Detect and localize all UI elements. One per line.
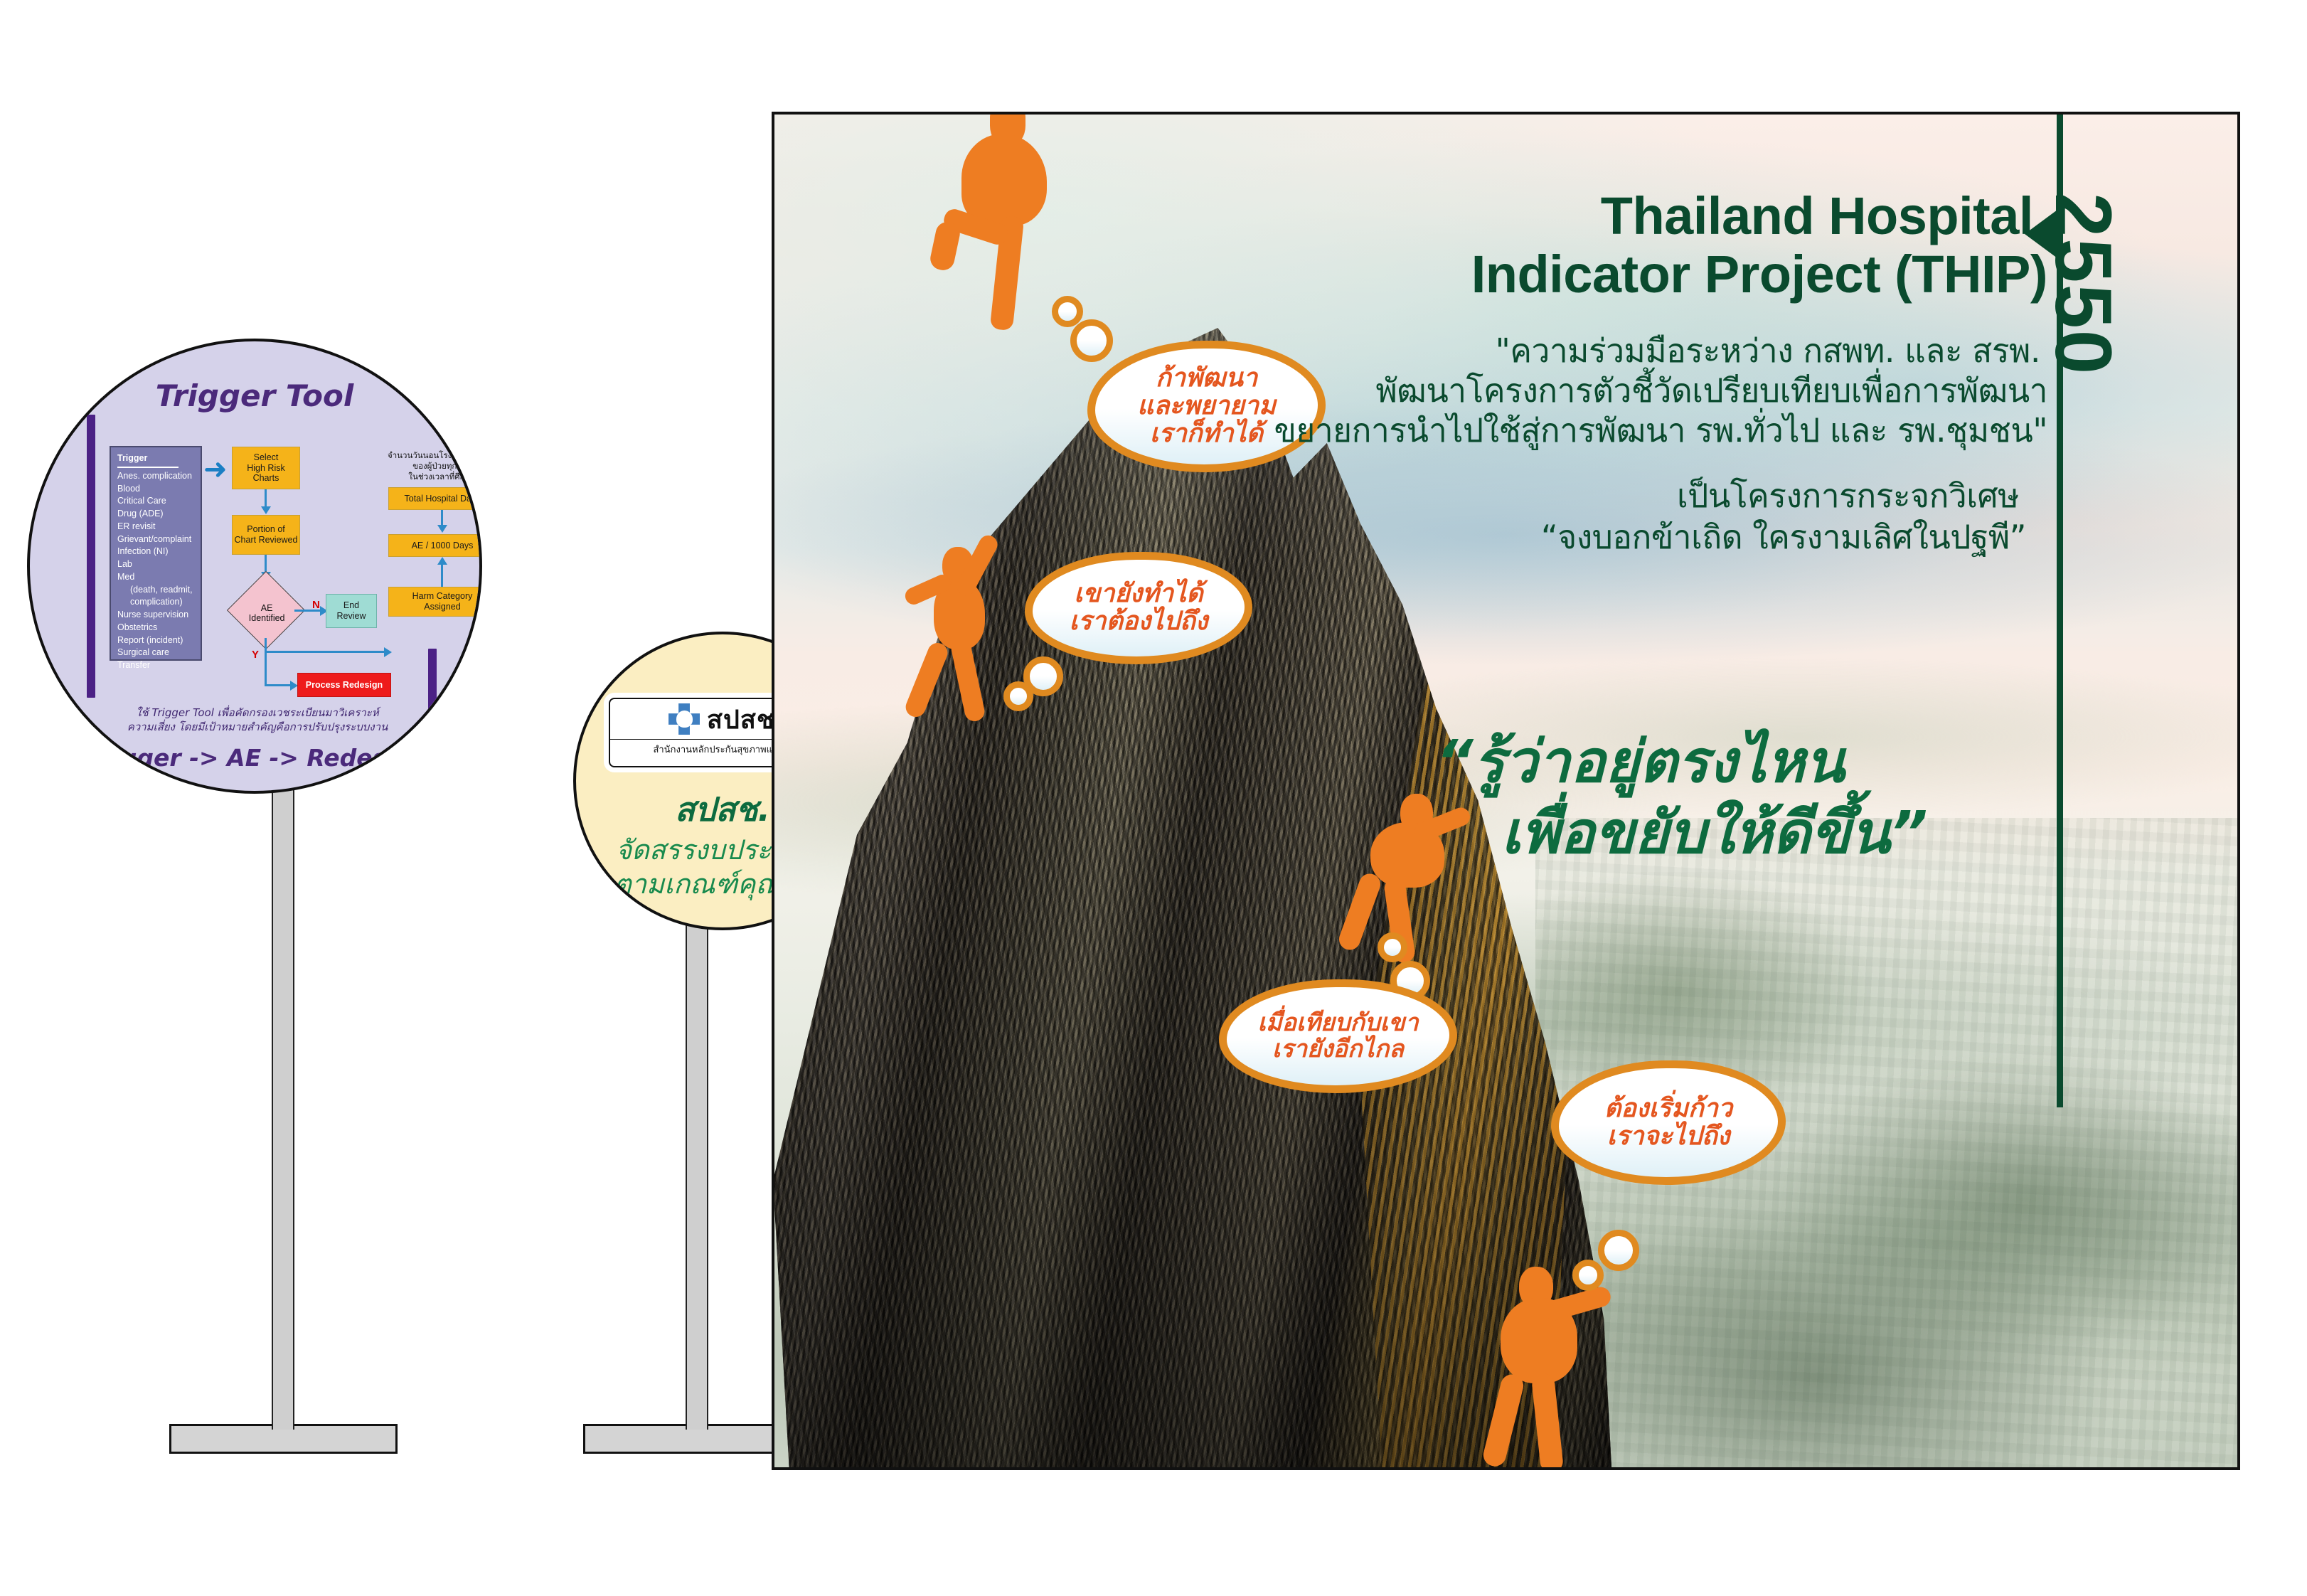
arrowhead-down-icon [437, 525, 447, 533]
trigger-list-item: Nurse supervision [117, 609, 194, 622]
trigger-list-item: Critical Care [117, 495, 194, 508]
trigger-list-item: Infection (NI) [117, 546, 194, 558]
bubble-2: เขายังทำได้ เราต้องไปถึง [1025, 552, 1252, 664]
flow-connector [294, 610, 323, 612]
trigger-tool-title: Trigger Tool [30, 378, 479, 413]
climber-leg-back [1481, 1372, 1526, 1469]
arrow-right-icon: ➜ [203, 455, 228, 484]
climber-leg-back [902, 640, 950, 720]
thought-dot-small [1572, 1260, 1604, 1291]
trigger-tool-note: ใช้ Trigger Tool เพื่อคัดกรองเวชระเบียนม… [73, 706, 442, 735]
flow-end-review: End Review [326, 594, 377, 628]
flow-connector [265, 651, 387, 653]
trigger-list-item: Blood [117, 483, 194, 496]
flow-portion-chart-reviewed: Portion of Chart Reviewed [232, 515, 300, 555]
billboard-subtitle-line-3: ขยายการนำไปใช้สู่การพัฒนา รพ.ทั่วไป และ … [774, 405, 2047, 457]
health-cross-icon [668, 703, 700, 735]
trigger-tool-note-line: ความเสี่ยง โดยมีเป้าหมายสำคัญคือการปรับป… [73, 720, 442, 734]
trigger-tool-sign[interactable]: Trigger Tool Trigger Anes. complication … [27, 339, 482, 794]
climber-leg-front [949, 637, 986, 723]
climber-4 [1475, 1267, 1639, 1470]
trigger-sign-post [272, 782, 294, 1430]
bubble-3-line: เรายังอีกไกล [1272, 1036, 1404, 1063]
nhso-sign-post [686, 910, 708, 1430]
trigger-list-item: Drug (ADE) [117, 508, 194, 521]
climber-leg-back [1336, 871, 1383, 953]
trigger-list-item: complication) [117, 596, 194, 609]
bubble-3-line: เมื่อเทียบกับเขา [1257, 1010, 1418, 1036]
flow-thai-note-line: ในช่วงเวลาที่ศึกษา [378, 472, 482, 482]
arrowhead-right-icon [384, 647, 392, 657]
flow-connector [265, 684, 293, 686]
flow-ae-per-1000-days: AE / 1000 Days [388, 534, 482, 557]
arrowhead-down-icon [261, 506, 271, 514]
trigger-list-item: Obstetrics [117, 622, 194, 634]
trigger-list-header: Trigger [117, 452, 179, 468]
flow-total-hospital-days: Total Hospital Days [388, 487, 482, 510]
bubble-3: เมื่อเทียบกับเขา เรายังอีกไกล [1219, 979, 1457, 1093]
thought-dot-medium [1598, 1230, 1639, 1271]
left-accent-bar [87, 415, 95, 698]
trigger-list-item: Surgical care [117, 647, 194, 659]
year-label: 2550 [2037, 193, 2129, 376]
flow-thai-note-line: ของผู้ป่วยทุกราย [378, 461, 482, 472]
flow-connector [441, 562, 443, 587]
trigger-list-item: Med [117, 571, 194, 584]
thought-dot-small [1378, 932, 1407, 962]
trigger-list-item: Anes. complication [117, 470, 194, 483]
decision-yes-label: Y [252, 649, 259, 661]
bubble-4-line: เราจะไปถึง [1607, 1123, 1730, 1151]
billboard-title-line-1: Thailand Hospital [774, 186, 2033, 246]
trigger-list: Trigger Anes. complication Blood Critica… [110, 446, 202, 661]
bubble-2-line: เขายังทำได้ [1074, 580, 1203, 608]
trigger-list-item: ER revisit [117, 521, 194, 533]
trigger-tool-note-line: ใช้ Trigger Tool เพื่อคัดกรองเวชระเบียนม… [73, 706, 442, 720]
trigger-list-item: Transfer [117, 659, 194, 672]
bubble-4-line: ต้องเริ่มก้าว [1604, 1095, 1732, 1123]
flow-select-high-risk: Select High Risk Charts [232, 447, 300, 489]
climber-leg-front [1531, 1373, 1564, 1470]
trigger-list-item: Lab [117, 558, 194, 571]
flow-harm-category-assigned: Harm Category Assigned [388, 587, 482, 617]
flow-process-redesign: Process Redesign [297, 673, 391, 697]
billboard-tagline-line-2: “จงบอกข้าเถิด ใครงามเลิศในปฐพี” [774, 511, 2026, 563]
main-billboard: ก้าพัฒนา และพยายาม เราก็ทำได้ เขายังทำได… [772, 112, 2240, 1470]
thought-dot-medium [1023, 656, 1063, 696]
bubble-2-line: เราต้องไปถึง [1070, 608, 1208, 636]
arrowhead-up-icon [437, 557, 447, 565]
decision-label: AE Identified [231, 603, 302, 624]
billboard-slogan-line-2: เพื่อขยับให้ดีขึ้น” [1501, 787, 1928, 879]
trigger-list-item: Report (incident) [117, 634, 194, 647]
flow-connector [265, 638, 267, 686]
trigger-tool-quote: “Trigger -> AE -> Redesign” [51, 744, 464, 772]
trigger-list-item: (death, readmit, [117, 584, 194, 597]
flow-thai-note: จำนวนวันนอนโรงพยาบาลรวม ของผู้ป่วยทุกราย… [378, 450, 482, 483]
billboard-title-line-2: Indicator Project (THIP) [774, 244, 2047, 304]
trigger-list-item: Grievant/complaint [117, 533, 194, 546]
flow-thai-note-line: จำนวนวันนอนโรงพยาบาลรวม [378, 450, 482, 461]
bubble-4: ต้องเริ่มก้าว เราจะไปถึง [1551, 1060, 1786, 1185]
